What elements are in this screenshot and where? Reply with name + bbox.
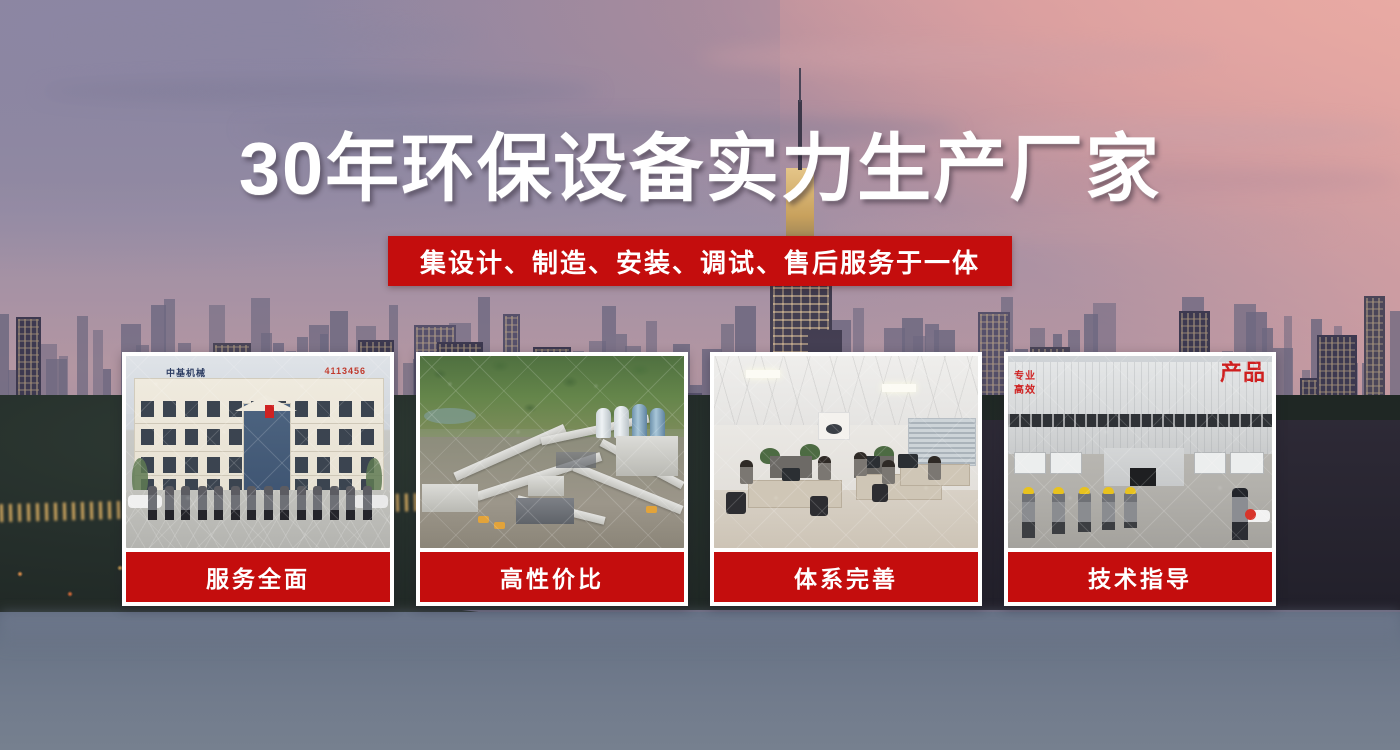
feature-card[interactable]: 中基机械 4113456 服务全面 <box>122 352 394 606</box>
card-caption: 技术指导 <box>1008 552 1272 602</box>
feature-card[interactable]: 产品 专业高效 技术指导 <box>1004 352 1276 606</box>
subtitle-banner: 集设计、制造、安装、调试、售后服务于一体 <box>388 236 1012 286</box>
feature-card[interactable]: 高性价比 <box>416 352 688 606</box>
river-water <box>0 612 1400 750</box>
feature-card-list: 中基机械 4113456 服务全面 <box>122 352 1278 606</box>
card-caption: 体系完善 <box>714 552 978 602</box>
flag-icon <box>265 405 274 418</box>
card-caption: 服务全面 <box>126 552 390 602</box>
building-sign-text: 中基机械 <box>166 366 206 379</box>
subtitle-text: 集设计、制造、安装、调试、售后服务于一体 <box>420 243 980 280</box>
card-photo-factory-workers: 产品 专业高效 <box>1008 356 1272 548</box>
window-blinds <box>908 418 976 466</box>
factory-wall-slogan: 产品 <box>1220 362 1266 384</box>
factory-wall-slogan-small: 专业高效 <box>1014 370 1036 397</box>
card-caption: 高性价比 <box>420 552 684 602</box>
card-caption-text: 体系完善 <box>794 560 898 594</box>
cloud-band <box>60 26 480 46</box>
red-helmet-icon <box>1245 509 1256 520</box>
staff-row <box>148 486 372 520</box>
card-caption-text: 服务全面 <box>206 560 310 594</box>
card-caption-text: 高性价比 <box>500 560 604 594</box>
feature-card[interactable]: 体系完善 <box>710 352 982 606</box>
cloud-band <box>700 42 1220 72</box>
wall-poster <box>818 412 850 440</box>
card-photo-office-building: 中基机械 4113456 <box>126 356 390 548</box>
card-photo-office-interior <box>714 356 978 548</box>
page-title: 30年环保设备实力生产厂家 <box>0 132 1400 206</box>
cloud-band <box>40 78 600 104</box>
tower-spire-tip <box>799 68 801 102</box>
card-photo-plant-aerial <box>420 356 684 548</box>
card-caption-text: 技术指导 <box>1088 560 1192 594</box>
banner-stage: 30年环保设备实力生产厂家 集设计、制造、安装、调试、售后服务于一体 <box>0 0 1400 750</box>
building-sign-phone: 4113456 <box>324 366 366 376</box>
office-building <box>134 378 384 498</box>
